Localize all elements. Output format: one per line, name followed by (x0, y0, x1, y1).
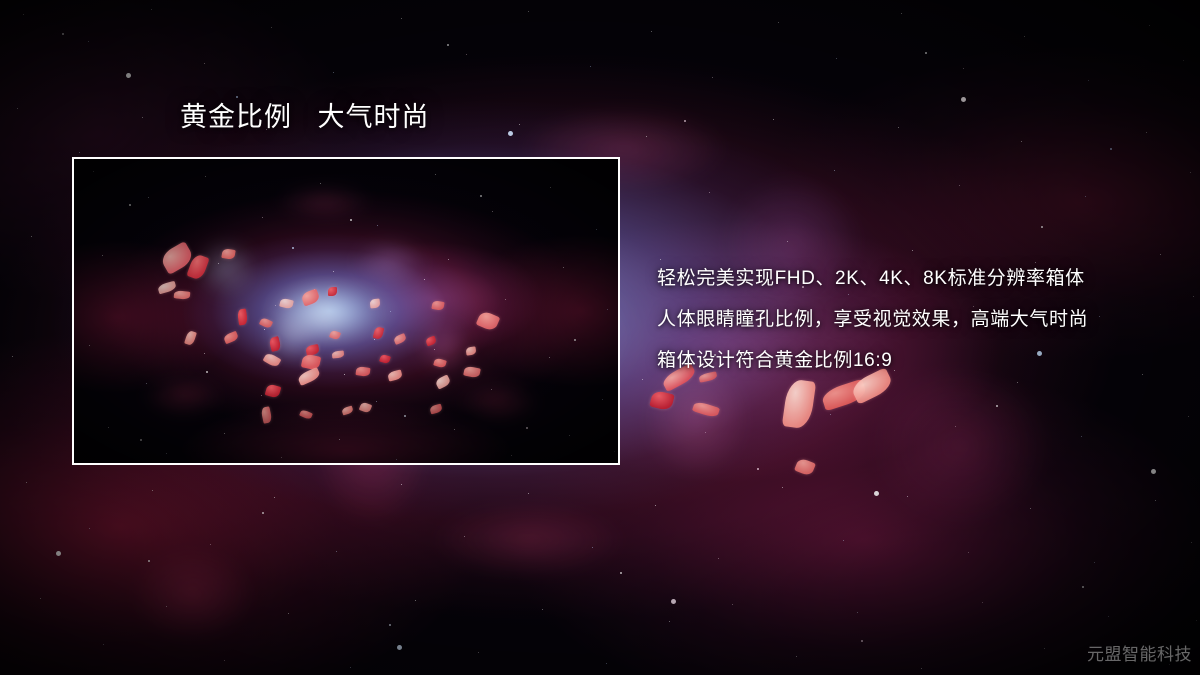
photo-frame (72, 157, 620, 465)
body-line-3: 箱体设计符合黄金比例16:9 (657, 340, 1177, 381)
background-petal (692, 400, 720, 418)
photo-vignette (74, 159, 618, 463)
body-text-block: 轻松完美实现FHD、2K、4K、8K标准分辨率箱体 人体眼睛瞳孔比例，享受视觉效… (657, 258, 1177, 381)
background-petal (820, 379, 868, 412)
presentation-slide: 黄金比例 大气时尚 轻松完美实现FHD、2K、4K、8K标准分辨率箱体 人体眼睛… (0, 0, 1200, 675)
body-line-2: 人体眼睛瞳孔比例，享受视觉效果，高端大气时尚 (657, 299, 1177, 340)
body-line-1: 轻松完美实现FHD、2K、4K、8K标准分辨率箱体 (657, 258, 1177, 299)
background-petal (649, 390, 674, 412)
page-title: 黄金比例 大气时尚 (180, 101, 430, 135)
watermark: 元盟智能科技 (1087, 640, 1192, 665)
background-petal (782, 378, 816, 429)
background-stars-small (0, 0, 1, 1)
background-stars-bright (0, 0, 3, 3)
background-stars-medium (0, 0, 2, 2)
background-petal (794, 457, 816, 477)
photo-image (74, 159, 618, 463)
